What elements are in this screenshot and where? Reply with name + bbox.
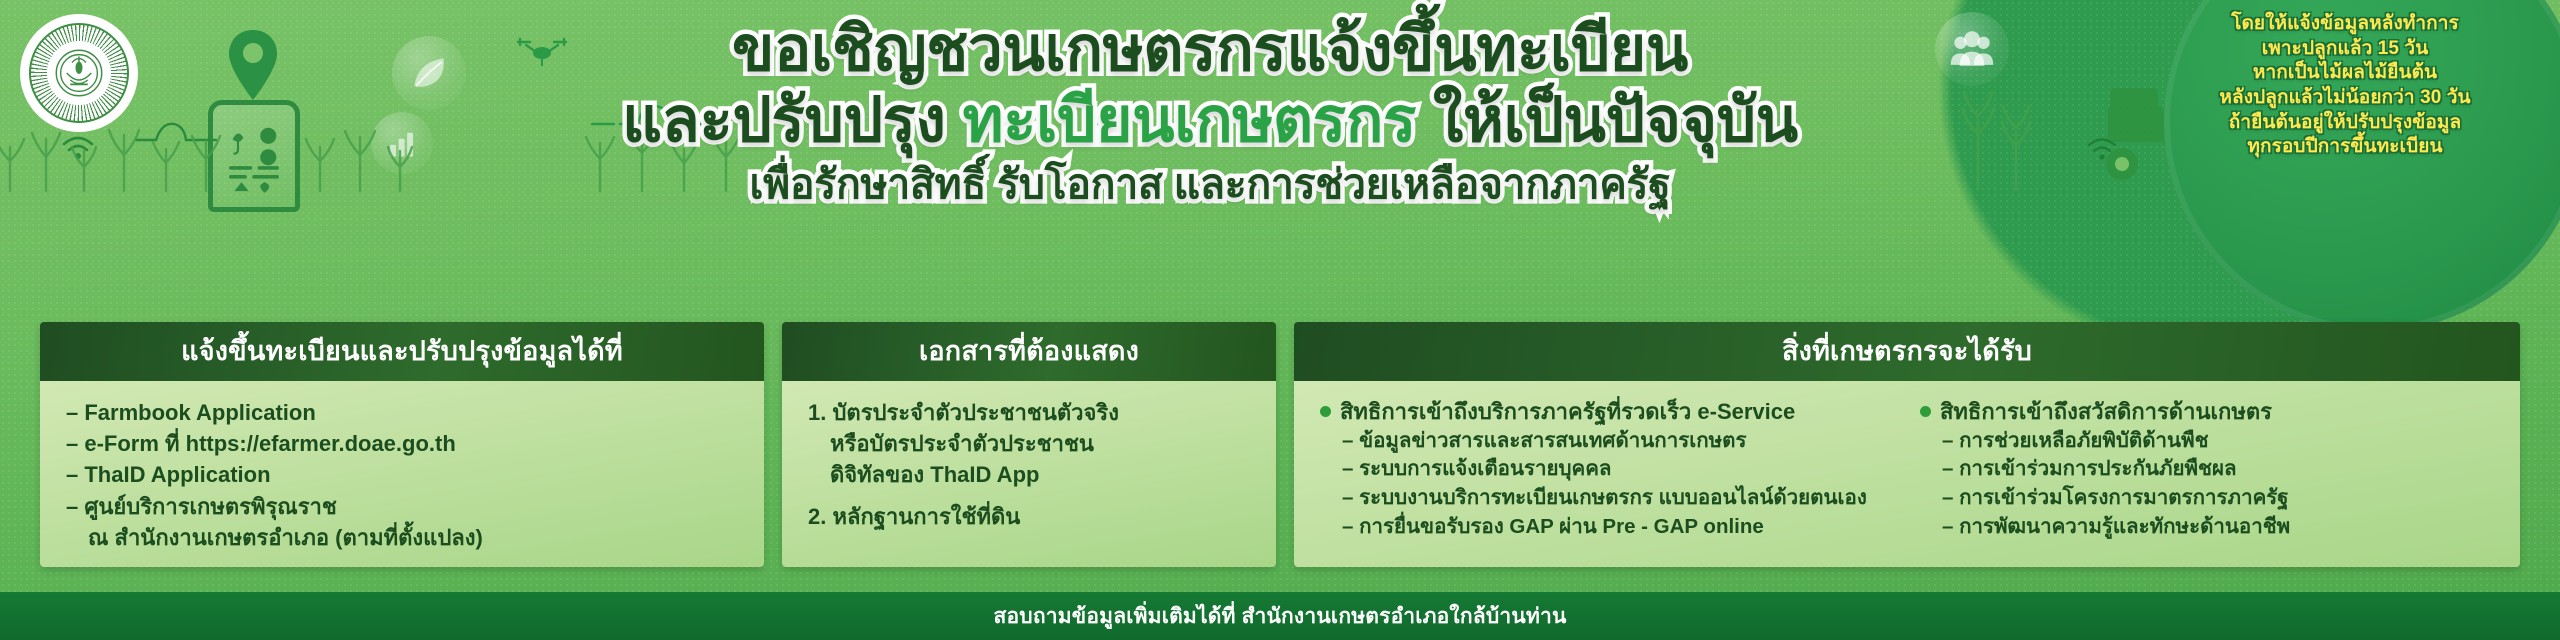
card-documents-title: เอกสารที่ต้องแสดง	[782, 322, 1276, 381]
list-item: 2. หลักฐานการใช้ที่ดิน	[808, 501, 1250, 532]
benefits-sub-list: – ข้อมูลข่าวสารและสารสนเทศด้านการเกษตร –…	[1320, 427, 1894, 542]
benefits-column-eservice: สิทธิการเข้าถึงบริการภาครัฐที่รวดเร็ว e-…	[1320, 397, 1894, 541]
headline-line-2-accent: ทะเบียนเกษตรกร	[963, 86, 1417, 155]
wifi-icon	[60, 133, 96, 161]
card-channels-body: – Farmbook Application – e-Form ที่ http…	[40, 381, 764, 567]
list-item: – การยื่นขอรับรอง GAP ผ่าน Pre - GAP onl…	[1342, 513, 1894, 542]
list-item: 1. บัตรประจำตัวประชาชนตัวจริง	[808, 397, 1250, 428]
callout-line-6: ทุกรอบปีการขึ้นทะเบียน	[2170, 135, 2520, 160]
list-item: – ศูนย์บริการเกษตรพิรุณราช	[66, 491, 738, 522]
list-item: – ระบบการแจ้งเตือนรายบุคคล	[1342, 455, 1894, 484]
headline-line-2-part-a: และปรับปรุง	[622, 86, 962, 155]
callout-line-3: หากเป็นไม้ผลไม้ยืนต้น	[2170, 61, 2520, 86]
list-item: – ThaID Application	[66, 459, 738, 490]
headline-line-2: และปรับปรุง ทะเบียนเกษตรกร ให้เป็นปัจจุบ…	[430, 89, 1990, 152]
bullet-dot-icon	[1920, 406, 1931, 417]
list-item[interactable]: – e-Form ที่ https://efarmer.doae.go.th	[66, 428, 738, 459]
benefits-heading: สิทธิการเข้าถึงบริการภาครัฐที่รวดเร็ว e-…	[1320, 397, 1894, 427]
government-seal-icon	[20, 14, 138, 132]
callout-line-5: ถ้ายืนต้นอยู่ให้ปรับปรุงข้อมูล	[2170, 111, 2520, 136]
card-documents: เอกสารที่ต้องแสดง 1. บัตรประจำตัวประชาชน…	[782, 322, 1276, 567]
callout-line-4: หลังปลูกแล้วไม่น้อยกว่า 30 วัน	[2170, 86, 2520, 111]
footer-text: สอบถามข้อมูลเพิ่มเติมได้ที่ สำนักงานเกษต…	[993, 600, 1566, 633]
chart-icon	[371, 112, 433, 174]
location-pin-icon	[225, 28, 281, 102]
list-item: – การช่วยเหลือภัยพิบัติด้านพืช	[1942, 427, 2494, 456]
headline-block: ขอเชิญชวนเกษตรกรแจ้งขึ้นทะเบียน และปรับป…	[430, 18, 1990, 206]
headline-line-2-part-b: ให้เป็นปัจจุบัน	[1416, 86, 1798, 155]
list-item: – Farmbook Application	[66, 397, 738, 428]
card-benefits-body: สิทธิการเข้าถึงบริการภาครัฐที่รวดเร็ว e-…	[1294, 381, 2520, 567]
wifi-icon-2	[2085, 135, 2119, 161]
benefits-heading-label: สิทธิการเข้าถึงบริการภาครัฐที่รวดเร็ว e-…	[1340, 397, 1795, 427]
benefits-column-welfare: สิทธิการเข้าถึงสวัสดิการด้านเกษตร – การช…	[1920, 397, 2494, 541]
card-channels: แจ้งขึ้นทะเบียนและปรับปรุงข้อมูลได้ที่ –…	[40, 322, 764, 567]
callout-line-1: โดยให้แจ้งข้อมูลหลังทำการ	[2170, 12, 2520, 37]
benefits-heading-label: สิทธิการเข้าถึงสวัสดิการด้านเกษตร	[1940, 397, 2272, 427]
headline-line-3: เพื่อรักษาสิทธิ์ รับโอกาส และการช่วยเหลื…	[430, 164, 1990, 206]
smartphone-icon	[208, 100, 300, 212]
benefits-sub-list: – การช่วยเหลือภัยพิบัติด้านพืช – การเข้า…	[1920, 427, 2494, 542]
benefits-heading: สิทธิการเข้าถึงสวัสดิการด้านเกษตร	[1920, 397, 2494, 427]
field-contour-line	[134, 110, 260, 144]
card-documents-body: 1. บัตรประจำตัวประชาชนตัวจริง หรือบัตรปร…	[782, 381, 1276, 567]
card-channels-title: แจ้งขึ้นทะเบียนและปรับปรุงข้อมูลได้ที่	[40, 322, 764, 381]
bullet-dot-icon	[1320, 406, 1331, 417]
list-item: – การพัฒนาความรู้และทักษะด้านอาชีพ	[1942, 513, 2494, 542]
callout-line-2: เพาะปลูกแล้ว 15 วัน	[2170, 37, 2520, 62]
list-item: หรือบัตรประจำตัวประชาชน	[808, 428, 1250, 459]
card-benefits-title: สิ่งที่เกษตรกรจะได้รับ	[1294, 322, 2520, 381]
footer-bar: สอบถามข้อมูลเพิ่มเติมได้ที่ สำนักงานเกษต…	[0, 592, 2560, 640]
list-item: ณ สำนักงานเกษตรอำเภอ (ตามที่ตั้งแปลง)	[66, 522, 738, 553]
headline-line-1: ขอเชิญชวนเกษตรกรแจ้งขึ้นทะเบียน	[430, 18, 1990, 81]
card-benefits: สิ่งที่เกษตรกรจะได้รับ สิทธิการเข้าถึงบร…	[1294, 322, 2520, 567]
callout-text: โดยให้แจ้งข้อมูลหลังทำการ เพาะปลูกแล้ว 1…	[2170, 12, 2520, 160]
list-item: – ระบบงานบริการทะเบียนเกษตรกร แบบออนไลน์…	[1342, 484, 1894, 513]
banner-root: โดยให้แจ้งข้อมูลหลังทำการ เพาะปลูกแล้ว 1…	[0, 0, 2560, 640]
info-cards-row: แจ้งขึ้นทะเบียนและปรับปรุงข้อมูลได้ที่ –…	[0, 322, 2560, 567]
list-item: – การเข้าร่วมโครงการมาตรการภาครัฐ	[1942, 484, 2494, 513]
list-item: – ข้อมูลข่าวสารและสารสนเทศด้านการเกษตร	[1342, 427, 1894, 456]
list-item: ดิจิทัลของ ThaID App	[808, 459, 1250, 490]
list-item: – การเข้าร่วมการประกันภัยพืชผล	[1942, 455, 2494, 484]
